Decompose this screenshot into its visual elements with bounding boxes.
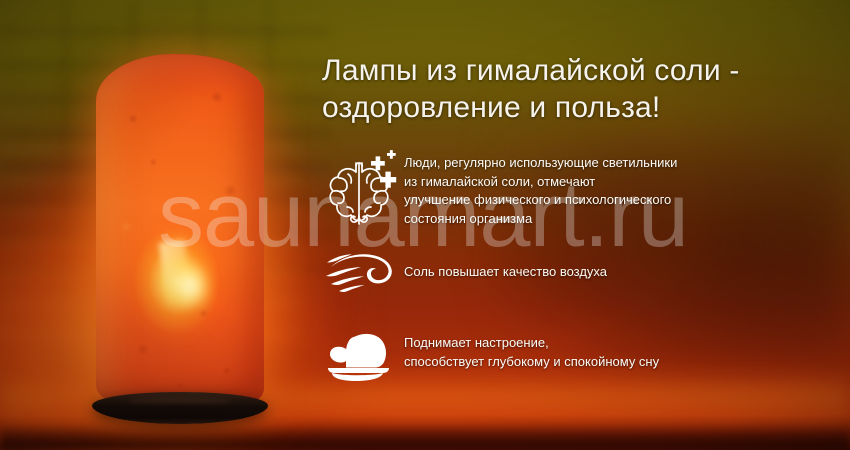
feature-item-sleep: Поднимает настроение, способствует глубо… xyxy=(320,322,840,384)
wind-swirl-icon xyxy=(320,248,404,298)
feature-line: Соль повышает качество воздуха xyxy=(404,263,840,282)
feature-text-air-quality: Соль повышает качество воздуха xyxy=(404,248,840,282)
sleeping-person-icon xyxy=(320,322,404,384)
feature-line: способствует глубокому и спокойному сну xyxy=(404,353,840,372)
feature-line: состояния организма xyxy=(404,210,840,229)
headline-line-2: оздоровление и польза! xyxy=(322,89,842,126)
feature-item-wellbeing: Люди, регулярно использующие светильники… xyxy=(320,148,840,232)
feature-line: Поднимает настроение, xyxy=(404,334,840,353)
feature-line: улучшение физического и психологического xyxy=(404,191,840,210)
banner-headline: Лампы из гималайской соли - оздоровление… xyxy=(322,52,842,126)
feature-line: Люди, регулярно использующие светильники xyxy=(404,154,840,173)
brain-sparkle-icon xyxy=(320,148,404,232)
feature-item-air-quality: Соль повышает качество воздуха xyxy=(320,248,840,298)
feature-list: Люди, регулярно использующие светильники… xyxy=(320,148,840,400)
feature-text-sleep: Поднимает настроение, способствует глубо… xyxy=(404,322,840,371)
salt-lamp-promo-banner: Лампы из гималайской соли - оздоровление… xyxy=(0,0,850,450)
banner-content: Лампы из гималайской соли - оздоровление… xyxy=(320,0,850,450)
feature-text-wellbeing: Люди, регулярно использующие светильники… xyxy=(404,148,840,228)
headline-line-1: Лампы из гималайской соли - xyxy=(322,52,842,89)
feature-line: из гималайской соли, отмечают xyxy=(404,173,840,192)
